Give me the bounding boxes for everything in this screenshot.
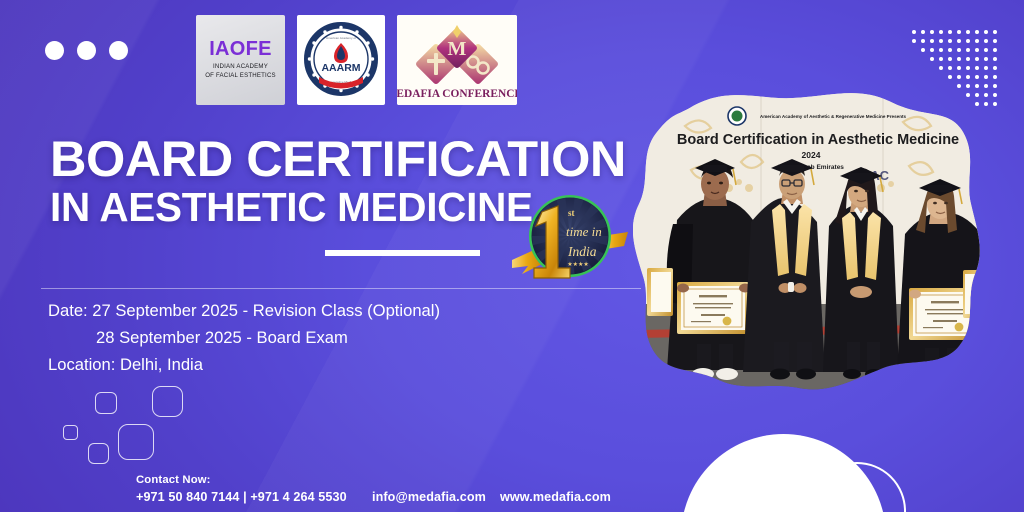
dot-icon: [957, 75, 961, 79]
event-location: Location: Delhi, India: [48, 352, 440, 379]
dot-icon: [966, 48, 970, 52]
dot-icon: [45, 41, 64, 60]
backdrop-title-text: Board Certification in Aesthetic Medicin…: [677, 132, 959, 148]
dot-icon: [966, 75, 970, 79]
dot-icon: [993, 84, 997, 88]
dot-icon: [966, 30, 970, 34]
iaofe-line1: INDIAN ACADEMY: [205, 63, 276, 72]
backdrop-presenter-text: American Academy of Aesthetic & Regenera…: [760, 114, 907, 119]
dot-icon: [993, 93, 997, 97]
dot-icon: [984, 66, 988, 70]
dot-icon: [948, 30, 952, 34]
badge-line2: India: [567, 244, 597, 259]
dot-icon: [939, 39, 943, 43]
dot-icon: [77, 41, 96, 60]
dot-icon: [984, 84, 988, 88]
dot-icon: [948, 48, 952, 52]
page-title-line2: IN AESTHETIC MEDICINE: [50, 186, 533, 228]
graduates-photo: American Academy of Aesthetic & Regenera…: [633, 92, 981, 394]
dot-icon: [993, 30, 997, 34]
iaofe-logo: IAOFE INDIAN ACADEMY OF FACIAL ESTHETICS: [196, 15, 285, 105]
dot-icon: [921, 48, 925, 52]
dot-icon: [930, 57, 934, 61]
dot-icon: [975, 75, 979, 79]
page-title-line1: BOARD CERTIFICATION: [50, 133, 626, 186]
event-details: Date: 27 September 2025 - Revision Class…: [48, 298, 440, 379]
contact-label: Contact Now:: [136, 474, 611, 486]
rounded-square-decoration: [95, 392, 117, 414]
dot-icon: [109, 41, 128, 60]
dot-icon: [957, 30, 961, 34]
rounded-square-decoration: [63, 425, 78, 440]
medafia-conferences-logo: M MEDAFIA CONFERENCES: [397, 15, 517, 105]
dot-icon: [921, 30, 925, 34]
rounded-square-decoration: [152, 386, 183, 417]
iaofe-acronym: IAOFE: [209, 39, 272, 59]
badge-line1: time in: [566, 224, 602, 239]
dot-icon: [993, 66, 997, 70]
svg-text:American Academy of: American Academy of: [326, 36, 356, 40]
dot-icon: [984, 57, 988, 61]
dot-icon: [975, 48, 979, 52]
dot-icon: [957, 48, 961, 52]
dot-icon: [930, 39, 934, 43]
dot-icon: [939, 57, 943, 61]
dot-icon: [948, 75, 952, 79]
dot-icon: [984, 48, 988, 52]
dot-icon: [948, 57, 952, 61]
badge-ordinal: st: [568, 208, 575, 218]
dot-icon: [930, 30, 934, 34]
iaofe-line2: OF FACIAL ESTHETICS: [205, 72, 276, 81]
dot-icon: [966, 66, 970, 70]
backdrop-seal-icon: [728, 107, 746, 125]
dot-icon: [939, 48, 943, 52]
dot-icon: [993, 39, 997, 43]
dot-icon: [975, 84, 979, 88]
dot-icon: [984, 75, 988, 79]
dot-icon: [993, 57, 997, 61]
accent-bar-divider: [325, 250, 480, 256]
dot-icon: [993, 75, 997, 79]
dot-icon: [966, 57, 970, 61]
contact-email[interactable]: info@medafia.com: [372, 490, 500, 504]
dot-icon: [975, 30, 979, 34]
medafia-wordmark: MEDAFIA CONFERENCES: [397, 88, 517, 100]
dot-icon: [966, 39, 970, 43]
rounded-square-decoration: [118, 424, 154, 460]
dot-icon: [957, 84, 961, 88]
dot-icon: [939, 66, 943, 70]
dot-icon: [912, 30, 916, 34]
dot-icon: [966, 84, 970, 88]
dot-icon: [948, 39, 952, 43]
dot-icon: [957, 39, 961, 43]
dot-icon: [921, 39, 925, 43]
dot-icon: [984, 39, 988, 43]
dot-icon: [957, 66, 961, 70]
dot-icon: [993, 102, 997, 106]
contact-phones[interactable]: +971 50 840 7144 | +971 4 264 5530: [136, 490, 372, 504]
dot-icon: [984, 93, 988, 97]
svg-text:M: M: [448, 38, 467, 60]
dot-icon: [939, 30, 943, 34]
contact-website[interactable]: www.medafia.com: [500, 490, 611, 504]
dot-icon: [975, 57, 979, 61]
logo-row: IAOFE INDIAN ACADEMY OF FACIAL ESTHETICS: [196, 15, 517, 105]
dot-icon: [975, 39, 979, 43]
dot-icon: [930, 48, 934, 52]
dot-icon: [948, 66, 952, 70]
contact-footer: Contact Now: +971 50 840 7144 | +971 4 2…: [136, 474, 611, 504]
dot-icon: [975, 66, 979, 70]
aaarm-logo: American Academy of Regenerative Medicin…: [297, 15, 385, 105]
rounded-square-decoration: [88, 443, 109, 464]
aaarm-acronym: AAARM: [321, 62, 360, 74]
dot-icon: [984, 102, 988, 106]
dot-icon: [912, 39, 916, 43]
first-time-in-india-badge: st time in India ★★★★: [506, 186, 634, 292]
dot-icon: [993, 48, 997, 52]
dot-icon: [957, 57, 961, 61]
promo-banner: American Academy of Aesthetic & Regenera…: [0, 0, 1024, 512]
top-left-dots-decoration: [45, 41, 128, 60]
event-date-line-1: Date: 27 September 2025 - Revision Class…: [48, 298, 440, 325]
event-date-line-2: 28 September 2025 - Board Exam: [48, 325, 440, 352]
badge-stars: ★★★★: [567, 261, 589, 268]
backdrop-year-text: 2024: [802, 150, 821, 160]
dot-icon: [984, 30, 988, 34]
